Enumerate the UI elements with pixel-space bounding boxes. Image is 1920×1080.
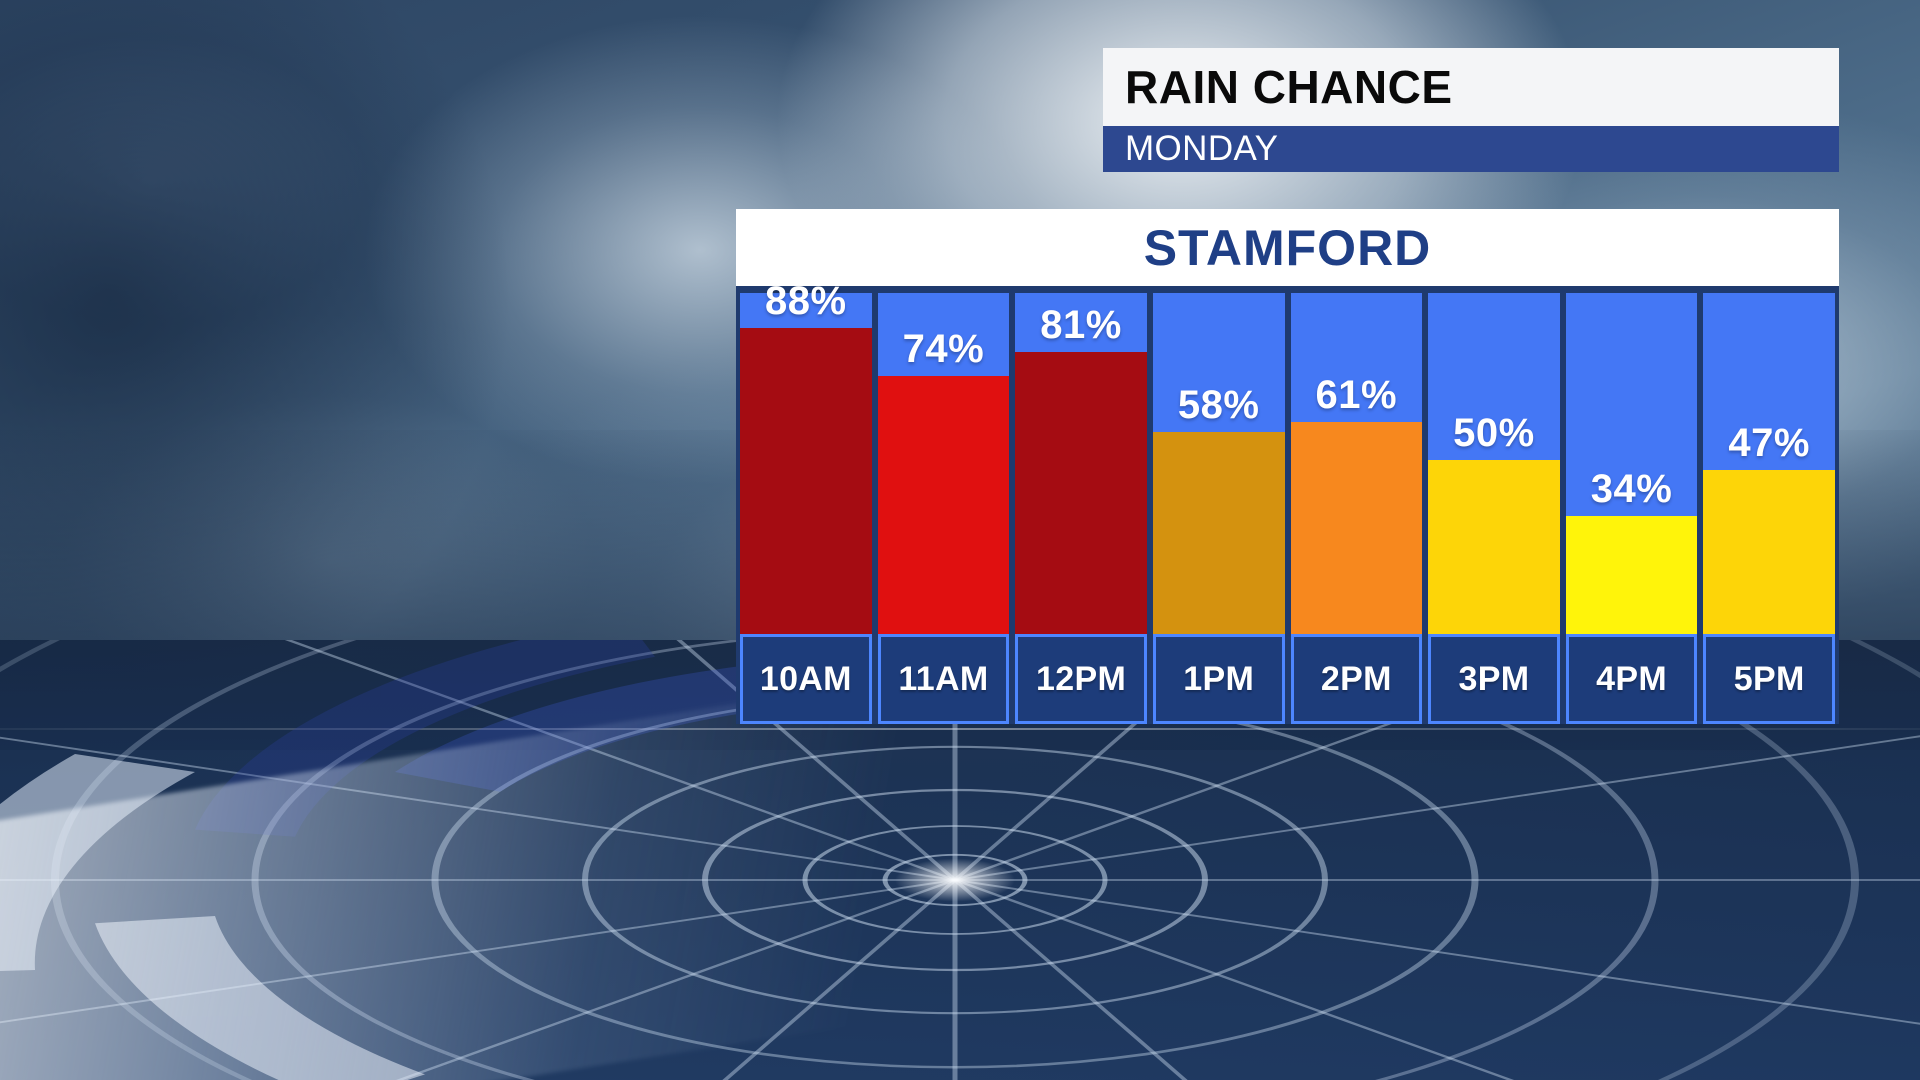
bar-value-label: 58% [1153,383,1285,428]
bar [878,376,1010,634]
time-label-cell: 12PM [1015,634,1147,724]
bar-value-label: 81% [1015,303,1147,348]
bar-column: 58%1PM [1150,293,1288,724]
rain-chance-panel: STAMFORD 88%10AM74%11AM81%12PM58%1PM61%2… [736,209,1839,724]
bar-value-label: 34% [1566,467,1698,512]
graphic-header: RAIN CHANCE MONDAY [1103,48,1839,172]
bar [1153,432,1285,634]
bar-column: 88%10AM [736,293,875,724]
bar-column: 34%4PM [1563,293,1701,724]
time-label-cell: 4PM [1566,634,1698,724]
bar-column: 50%3PM [1425,293,1563,724]
bar-column: 74%11AM [875,293,1013,724]
time-label: 5PM [1734,660,1805,699]
bar [1015,352,1147,634]
time-label: 2PM [1321,660,1392,699]
day-bar: MONDAY [1103,126,1839,172]
bar [1428,460,1560,634]
bar-plot-area: 58% [1153,293,1285,634]
bar-column: 81%12PM [1012,293,1150,724]
time-label-cell: 1PM [1153,634,1285,724]
bar-plot-area: 74% [878,293,1010,634]
time-label: 3PM [1459,660,1530,699]
time-label-cell: 10AM [740,634,872,724]
bar-value-label: 50% [1428,411,1560,456]
bar [1703,470,1835,634]
time-label: 4PM [1596,660,1667,699]
time-label-cell: 3PM [1428,634,1560,724]
city-name: STAMFORD [1144,219,1432,277]
time-label-cell: 11AM [878,634,1010,724]
time-label: 1PM [1183,660,1254,699]
bar-plot-area: 61% [1291,293,1423,634]
bar-plot-area: 34% [1566,293,1698,634]
time-label-cell: 2PM [1291,634,1423,724]
bar-plot-area: 88% [740,293,872,634]
bar [740,328,872,634]
bar [1566,516,1698,634]
bar-value-label: 88% [740,279,872,324]
time-label: 12PM [1036,660,1126,699]
weather-graphic-stage: RAIN CHANCE MONDAY STAMFORD 88%10AM74%11… [0,0,1920,1080]
bar-plot-area: 81% [1015,293,1147,634]
bar-column: 61%2PM [1288,293,1426,724]
page-title: RAIN CHANCE [1125,60,1453,114]
city-bar: STAMFORD [736,209,1839,286]
time-label-cell: 5PM [1703,634,1835,724]
bar-column: 47%5PM [1700,293,1839,724]
time-label: 10AM [760,660,852,699]
bar-value-label: 47% [1703,421,1835,466]
bar-plot-area: 50% [1428,293,1560,634]
time-label: 11AM [898,660,988,699]
title-bar: RAIN CHANCE [1103,48,1839,126]
bar-value-label: 61% [1291,373,1423,418]
day-label: MONDAY [1125,129,1278,169]
bar-chart: 88%10AM74%11AM81%12PM58%1PM61%2PM50%3PM3… [736,286,1839,724]
bar-plot-area: 47% [1703,293,1835,634]
bar [1291,422,1423,634]
bar-value-label: 74% [878,327,1010,372]
